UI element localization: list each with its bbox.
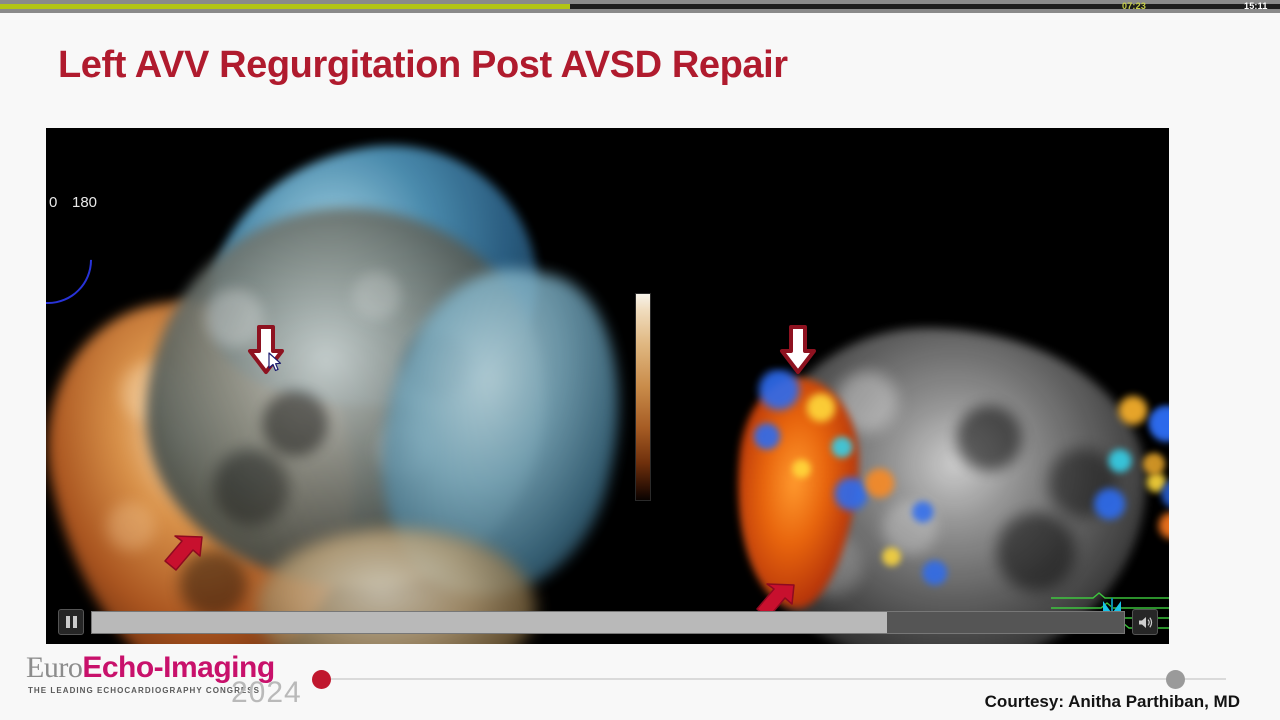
euroecho-imaging-logo: EuroEcho-Imaging THE LEADING ECHOCARDIOG… [26, 652, 308, 704]
pause-icon-bar-right [73, 616, 77, 628]
playback-current-time: 07:23 [1122, 0, 1146, 13]
mouse-cursor-icon [268, 352, 282, 372]
white-down-arrow-icon [778, 324, 818, 376]
slide-footer: EuroEcho-Imaging THE LEADING ECHOCARDIOG… [0, 648, 1280, 720]
red-arrow-icon [162, 532, 206, 576]
color-scale-bar [635, 293, 651, 501]
volume-icon [1138, 616, 1153, 629]
orientation-marker: 0 180 [46, 164, 166, 244]
slide-title: Left AVV Regurgitation Post AVSD Repair [58, 44, 788, 87]
volume-button[interactable] [1132, 609, 1158, 635]
video-playback-bar[interactable]: 07:23 15:11 [0, 0, 1280, 13]
video-scrubber-fill [92, 612, 887, 633]
playback-total-time: 15:11 [1244, 0, 1268, 13]
doppler-flow-far-right [1126, 398, 1169, 518]
logo-year: 2024 [231, 676, 302, 710]
pause-icon-bar-left [66, 616, 70, 628]
slide-progress-dot-current[interactable] [312, 670, 331, 689]
pause-button[interactable] [58, 609, 84, 635]
logo-euro-text: Euro [26, 651, 82, 684]
video-control-bar[interactable] [58, 609, 1158, 635]
orientation-label-180: 180 [72, 194, 97, 211]
slide-progress-dot-end[interactable] [1166, 670, 1185, 689]
logo-tagline: THE LEADING ECHOCARDIOGRAPHY CONGRESS [28, 686, 260, 695]
courtesy-credit: Courtesy: Anitha Parthiban, MD [985, 692, 1240, 712]
video-scrubber[interactable] [91, 611, 1125, 634]
orientation-label-0: 0 [49, 194, 57, 211]
slide-progress-track[interactable] [316, 678, 1226, 680]
echocardiogram-video-panel[interactable]: 0 180 [46, 128, 1169, 644]
doppler-flow-speckle-b [846, 448, 966, 608]
playback-progress-fill [0, 4, 570, 9]
